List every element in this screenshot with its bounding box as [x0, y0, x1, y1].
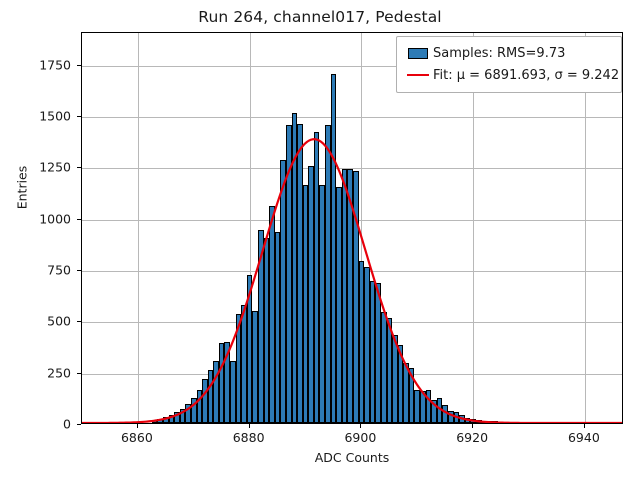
x-tick-mark	[137, 424, 138, 428]
legend-label-fit: Fit: μ = 6891.693, σ = 9.242	[433, 68, 619, 83]
y-axis-label: Entries	[15, 138, 30, 238]
y-tick-label: 1000	[39, 211, 71, 226]
y-tick-mark	[77, 321, 81, 322]
legend-item-samples: Samples: RMS=9.73	[403, 42, 615, 64]
y-tick-label: 1250	[39, 160, 71, 175]
y-tick-label: 1750	[39, 57, 71, 72]
x-axis-label: ADC Counts	[81, 450, 623, 465]
y-tick-mark	[77, 116, 81, 117]
x-tick-mark	[584, 424, 585, 428]
x-tick-label: 6860	[121, 430, 153, 445]
x-tick-label: 6940	[568, 430, 600, 445]
legend-item-fit: Fit: μ = 6891.693, σ = 9.242	[403, 64, 615, 86]
y-tick-mark	[77, 219, 81, 220]
chart-legend[interactable]: Samples: RMS=9.73 Fit: μ = 6891.693, σ =…	[396, 36, 622, 93]
y-tick-label: 250	[47, 365, 71, 380]
x-tick-label: 6900	[344, 430, 376, 445]
legend-swatch-samples-icon	[403, 48, 433, 59]
y-tick-mark	[77, 65, 81, 66]
chart-title: Run 264, channel017, Pedestal	[0, 8, 640, 26]
y-tick-mark	[77, 373, 81, 374]
x-tick-mark	[360, 424, 361, 428]
x-tick-mark	[472, 424, 473, 428]
matplotlib-figure: Run 264, channel017, Pedestal 6860688069…	[0, 0, 640, 480]
y-tick-label: 0	[63, 417, 71, 432]
legend-label-samples: Samples: RMS=9.73	[433, 46, 565, 61]
y-tick-mark	[77, 270, 81, 271]
y-tick-mark	[77, 167, 81, 168]
y-tick-label: 500	[47, 314, 71, 329]
legend-swatch-fit-icon	[403, 74, 433, 76]
x-tick-label: 6920	[456, 430, 488, 445]
y-tick-label: 750	[47, 263, 71, 278]
x-tick-label: 6880	[233, 430, 265, 445]
y-tick-mark	[77, 424, 81, 425]
y-tick-label: 1500	[39, 109, 71, 124]
x-tick-mark	[249, 424, 250, 428]
